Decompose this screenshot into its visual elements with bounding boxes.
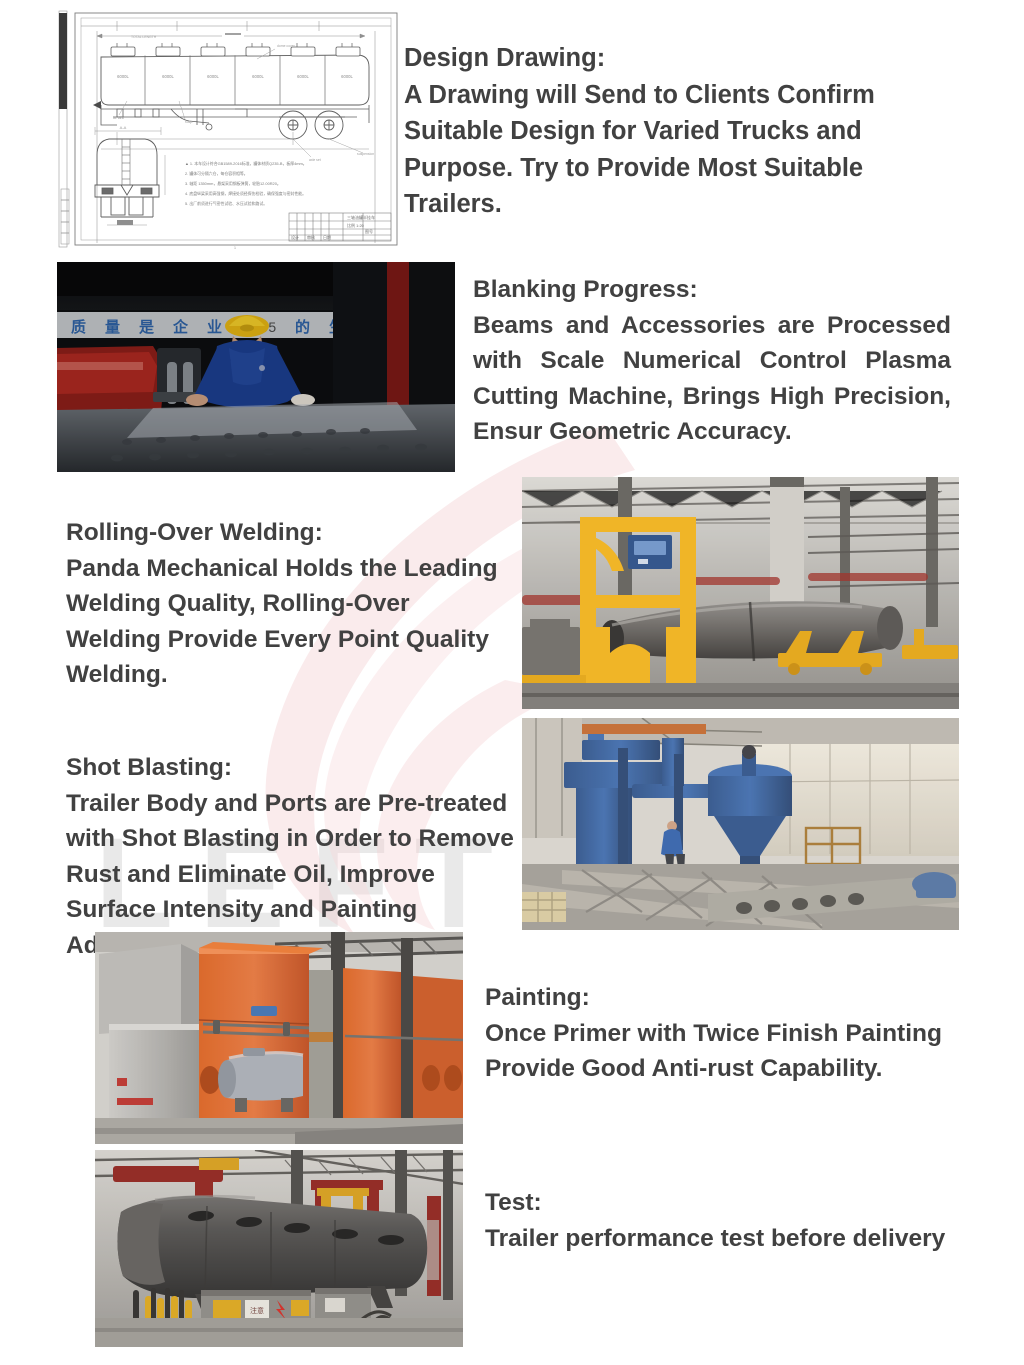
svg-text:suspension: suspension [357,152,374,156]
svg-text:4. 底盘纵梁采用高强钢，焊接处须经探伤检验，确保强度与密封: 4. 底盘纵梁采用高强钢，焊接处须经探伤检验，确保强度与密封性能。 [185,191,306,196]
svg-text:6000L: 6000L [117,74,129,79]
svg-text:图号: 图号 [365,228,373,234]
blanking-progress-body: Beams and Accessories are Processed with… [473,308,951,450]
blanking-progress-text: Blanking Progress: Beams and Accessories… [473,272,951,450]
svg-text:6000L: 6000L [297,74,309,79]
svg-text:设计: 设计 [291,234,299,240]
design-drawing-image: 6000L6000L 6000L6000L 6000L6000L [57,5,402,253]
painting-title: Painting: [485,980,955,1016]
svg-text:6000L: 6000L [162,74,174,79]
test-image: 注意 [95,1150,463,1347]
rolling-over-welding-body: Panda Mechanical Holds the Leading Weldi… [66,551,506,693]
design-drawing-text: Design Drawing: A Drawing will Send to C… [404,40,964,223]
rolling-over-welding-text: Rolling-Over Welding: Panda Mechanical H… [66,515,506,693]
rolling-over-welding-image [522,477,959,709]
design-drawing-title: Design Drawing: [404,40,964,77]
svg-text:A-A: A-A [120,125,127,130]
svg-text:比例 1:20: 比例 1:20 [347,222,365,228]
svg-text:axle set: axle set [309,158,321,162]
svg-text:air tank: air tank [113,116,124,120]
shot-blasting-image [522,718,959,930]
process-infographic-page: LEFT [0,0,1024,1365]
svg-text:6000L: 6000L [252,74,264,79]
painting-text: Painting: Once Primer with Twice Finish … [485,980,955,1087]
test-body: Trailer performance test before delivery [485,1221,955,1257]
painting-booth-image [95,932,463,1144]
test-title: Test: [485,1185,955,1221]
svg-text:6000L: 6000L [207,74,219,79]
test-text: Test: Trailer performance test before de… [485,1185,955,1256]
painting-body: Once Primer with Twice Finish Painting P… [485,1016,955,1087]
svg-text:3. 轴距 1350mm，悬架采用钢板弹簧，轮胎12.00R: 3. 轴距 1350mm，悬架采用钢板弹簧，轮胎12.00R20。 [185,181,281,186]
rolling-over-welding-title: Rolling-Over Welding: [66,515,506,551]
svg-text:susp.: susp. [185,120,193,124]
design-drawing-body: A Drawing will Send to Clients Confirm S… [404,77,964,223]
blanking-progress-title: Blanking Progress: [473,272,951,308]
svg-text:三轴油罐半挂车: 三轴油罐半挂车 [347,214,375,220]
svg-text:▲ 1. 本车设计符合GB1589-2016标准，罐体材质Q: ▲ 1. 本车设计符合GB1589-2016标准，罐体材质Q235-B，板厚4m… [185,161,307,166]
svg-text:5. 出厂前须进行气密性试验、水压试验和路试。: 5. 出厂前须进行气密性试验、水压试验和路试。 [185,201,267,206]
svg-text:审核: 审核 [307,234,315,240]
svg-text:2. 罐体可分隔六仓，每仓容积相等。: 2. 罐体可分隔六仓，每仓容积相等。 [185,171,248,176]
svg-text:dome cover: dome cover [277,44,296,48]
blanking-progress-image: 质量是 企业 ≫ 95 的生命 [57,262,455,472]
svg-text:日期: 日期 [323,234,331,240]
svg-text:6000L: 6000L [341,74,353,79]
shot-blasting-title: Shot Blasting: [66,750,521,786]
svg-text:TOTAL LENGTH: TOTAL LENGTH [131,35,157,39]
